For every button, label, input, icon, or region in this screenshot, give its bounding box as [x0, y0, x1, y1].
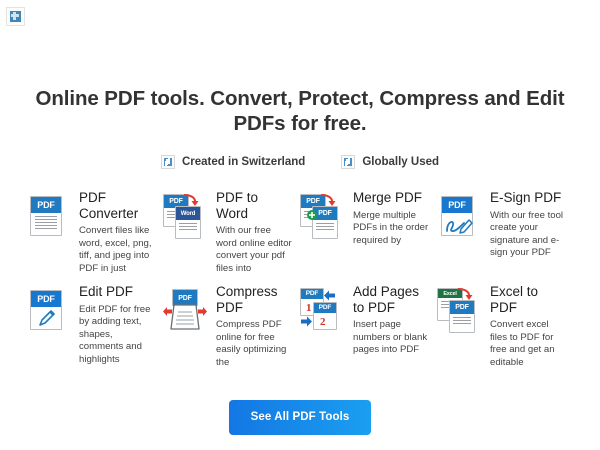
- pdf-document-icon: PDF: [26, 194, 70, 240]
- badge-globally-used: Globally Used: [341, 155, 439, 169]
- broken-image-glyph: [10, 11, 21, 22]
- compress-arrow-right-icon: [198, 306, 207, 317]
- pdf-icon-label: PDF: [442, 197, 472, 213]
- convert-arrow-icon: [456, 286, 474, 304]
- pdf-to-word-icon: PDF Word: [163, 194, 207, 240]
- add-pages-to-pdf-icon: PDF 1 PDF 2: [300, 288, 344, 334]
- tool-description: Convert excel files to PDF for free and …: [490, 319, 566, 369]
- page-number-2: 2: [320, 316, 326, 328]
- site-logo-broken-image-icon[interactable]: [6, 7, 25, 26]
- tool-title: Edit PDF: [79, 284, 155, 300]
- tool-title: Merge PDF: [353, 190, 429, 206]
- tool-title: E-Sign PDF: [490, 190, 566, 206]
- compress-arrow-left-icon: [163, 306, 172, 317]
- signature-pen-icon: [444, 215, 474, 237]
- insert-arrow-right-icon: [301, 316, 312, 327]
- tool-title: Compress PDF: [216, 284, 292, 315]
- hero-section: Online PDF tools. Convert, Protect, Comp…: [0, 0, 600, 169]
- page-number-1: 1: [306, 302, 312, 314]
- tool-title: Excel to PDF: [490, 284, 566, 315]
- badge-label: Created in Switzerland: [182, 156, 305, 168]
- merge-pdf-icon: PDF PDF: [300, 194, 344, 240]
- tool-description: With our free tool create your signature…: [490, 210, 566, 260]
- tool-description: Edit PDF for free by adding text, shapes…: [79, 304, 155, 367]
- tool-card-merge-pdf[interactable]: PDF PDF Merge PDF Merge multiple PDFs in…: [300, 190, 437, 284]
- convert-arrow-icon: [182, 192, 200, 210]
- merge-arrow-icon: [319, 192, 337, 210]
- tool-description: With our free word online editor convert…: [216, 225, 292, 275]
- tool-description: Insert page numbers or blank pages into …: [353, 319, 429, 357]
- plus-badge-icon: [307, 210, 317, 220]
- tool-card-excel-to-pdf[interactable]: Excel PDF Excel to PDF Convert excel fil…: [437, 284, 574, 378]
- broken-image-icon: [161, 155, 175, 169]
- esign-pdf-icon: PDF: [437, 194, 481, 240]
- badge-created-in-switzerland: Created in Switzerland: [161, 155, 305, 169]
- tool-description: Convert files like word, excel, png, tif…: [79, 225, 155, 275]
- tool-description: Merge multiple PDFs in the order require…: [353, 210, 429, 248]
- tool-card-compress-pdf[interactable]: PDF Compress PDF Compress PDF online for…: [163, 284, 300, 378]
- tool-card-pdf-converter[interactable]: PDF PDF Converter Convert files like wor…: [26, 190, 163, 284]
- tools-grid: PDF PDF Converter Convert files like wor…: [26, 190, 574, 378]
- pdf-icon-label: PDF: [31, 291, 61, 307]
- tool-description: Compress PDF online for free easily opti…: [216, 319, 292, 369]
- badge-label: Globally Used: [362, 156, 439, 168]
- cta-section: See All PDF Tools: [0, 400, 600, 435]
- tool-title: Add Pages to PDF: [353, 284, 429, 315]
- tool-title: PDF Converter: [79, 190, 155, 221]
- broken-image-icon: [341, 155, 355, 169]
- tool-card-edit-pdf[interactable]: PDF Edit PDF Edit PDF for free by adding…: [26, 284, 163, 378]
- compress-pdf-icon: PDF: [163, 288, 207, 334]
- pencil-icon: [37, 309, 57, 329]
- tool-card-add-pages-to-pdf[interactable]: PDF 1 PDF 2 Add Pages to PDF Insert page…: [300, 284, 437, 378]
- insert-arrow-left-icon: [324, 290, 335, 301]
- pdf-icon-label: PDF: [314, 303, 336, 313]
- pdf-icon-label: PDF: [31, 197, 61, 213]
- tool-card-e-sign-pdf[interactable]: PDF E-Sign PDF With our free tool create…: [437, 190, 574, 284]
- excel-to-pdf-icon: Excel PDF: [437, 288, 481, 334]
- compress-body-icon: [170, 303, 200, 333]
- see-all-pdf-tools-button[interactable]: See All PDF Tools: [229, 400, 372, 435]
- pdf-icon-label: PDF: [301, 289, 323, 299]
- tool-title: PDF to Word: [216, 190, 292, 221]
- tool-card-pdf-to-word[interactable]: PDF Word PDF to Word With our free word …: [163, 190, 300, 284]
- trust-badges: Created in Switzerland Globally Used: [0, 155, 600, 169]
- edit-pdf-icon: PDF: [26, 288, 70, 334]
- page-title: Online PDF tools. Convert, Protect, Comp…: [22, 86, 578, 136]
